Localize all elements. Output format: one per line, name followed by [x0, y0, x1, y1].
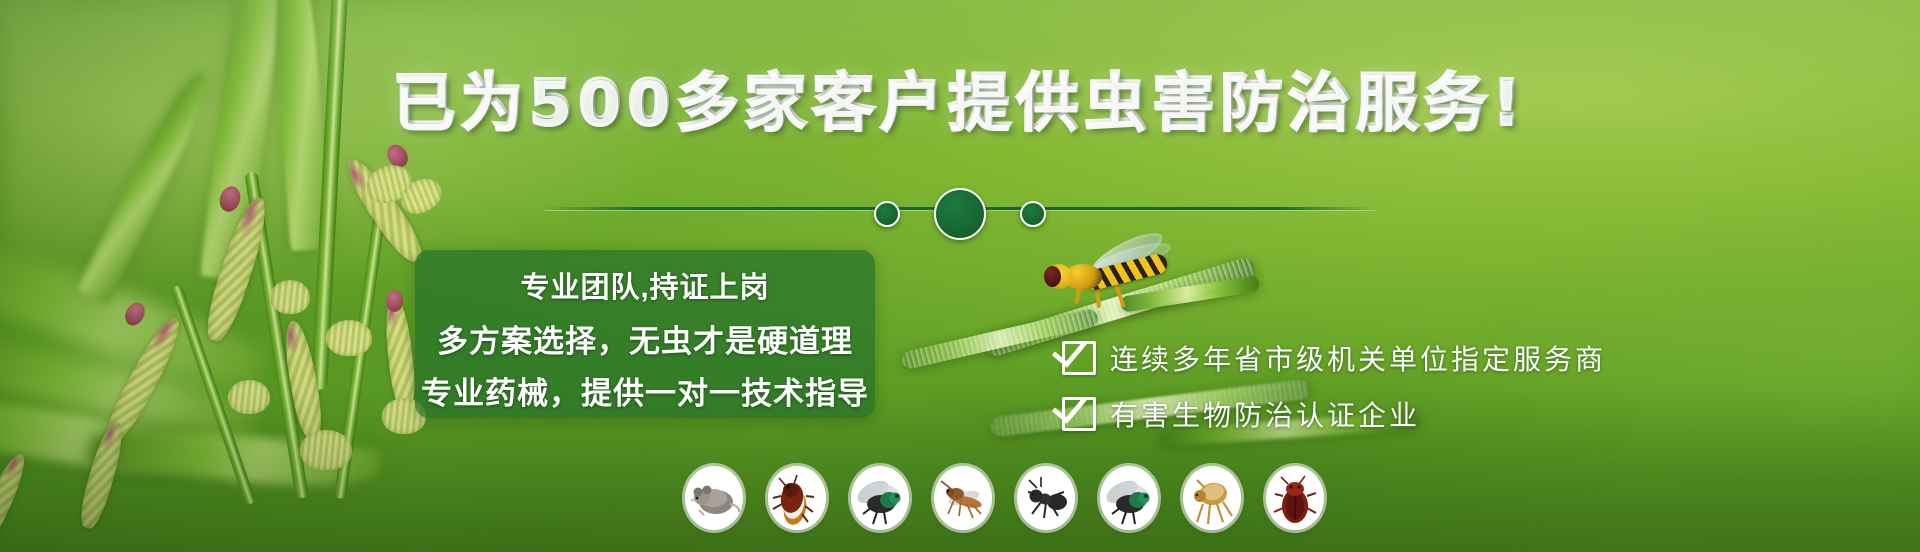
checkbox-checked-icon: [1062, 397, 1096, 431]
pest-icon-row: [685, 466, 1324, 530]
bedbug-icon: [1266, 466, 1324, 530]
dot-small-left: [874, 201, 900, 227]
pest-control-banner: 已为500多家客户提供虫害防治服务! 专业团队,持证上岗 多方案选择，无虫才是硬…: [0, 0, 1920, 552]
features-box: 专业团队,持证上岗 多方案选择，无虫才是硬道理 专业药械，提供一对一技术指导: [415, 250, 875, 418]
checklist-label-1: 连续多年省市级机关单位指定服务商: [1110, 338, 1606, 378]
checklist-label-2: 有害生物防治认证企业: [1110, 394, 1420, 434]
ant-icon: [1017, 466, 1075, 530]
mosquito-icon: [934, 466, 992, 530]
mouse-icon: [685, 466, 743, 530]
certification-checklist: 连续多年省市级机关单位指定服务商 有害生物防治认证企业: [1062, 330, 1606, 442]
feature-line-1: 专业团队,持证上岗: [415, 264, 875, 306]
cockroach-icon: [768, 466, 826, 530]
page-title: 已为500多家客户提供虫害防治服务!: [0, 72, 1920, 134]
flea-icon: [1183, 466, 1241, 530]
checkbox-checked-icon: [1062, 341, 1096, 375]
decorative-dots: [830, 189, 1090, 239]
fly-icon: [851, 466, 909, 530]
blowfly-icon: [1100, 466, 1158, 530]
list-item: 有害生物防治认证企业: [1062, 386, 1606, 442]
feature-line-2: 多方案选择，无虫才是硬道理: [415, 316, 875, 361]
feature-line-3: 专业药械，提供一对一技术指导: [415, 368, 875, 413]
dot-large-center: [934, 188, 986, 240]
dot-small-right: [1020, 201, 1046, 227]
list-item: 连续多年省市级机关单位指定服务商: [1062, 330, 1606, 386]
headline-text: 已为500多家客户提供虫害防治服务!: [393, 66, 1527, 139]
